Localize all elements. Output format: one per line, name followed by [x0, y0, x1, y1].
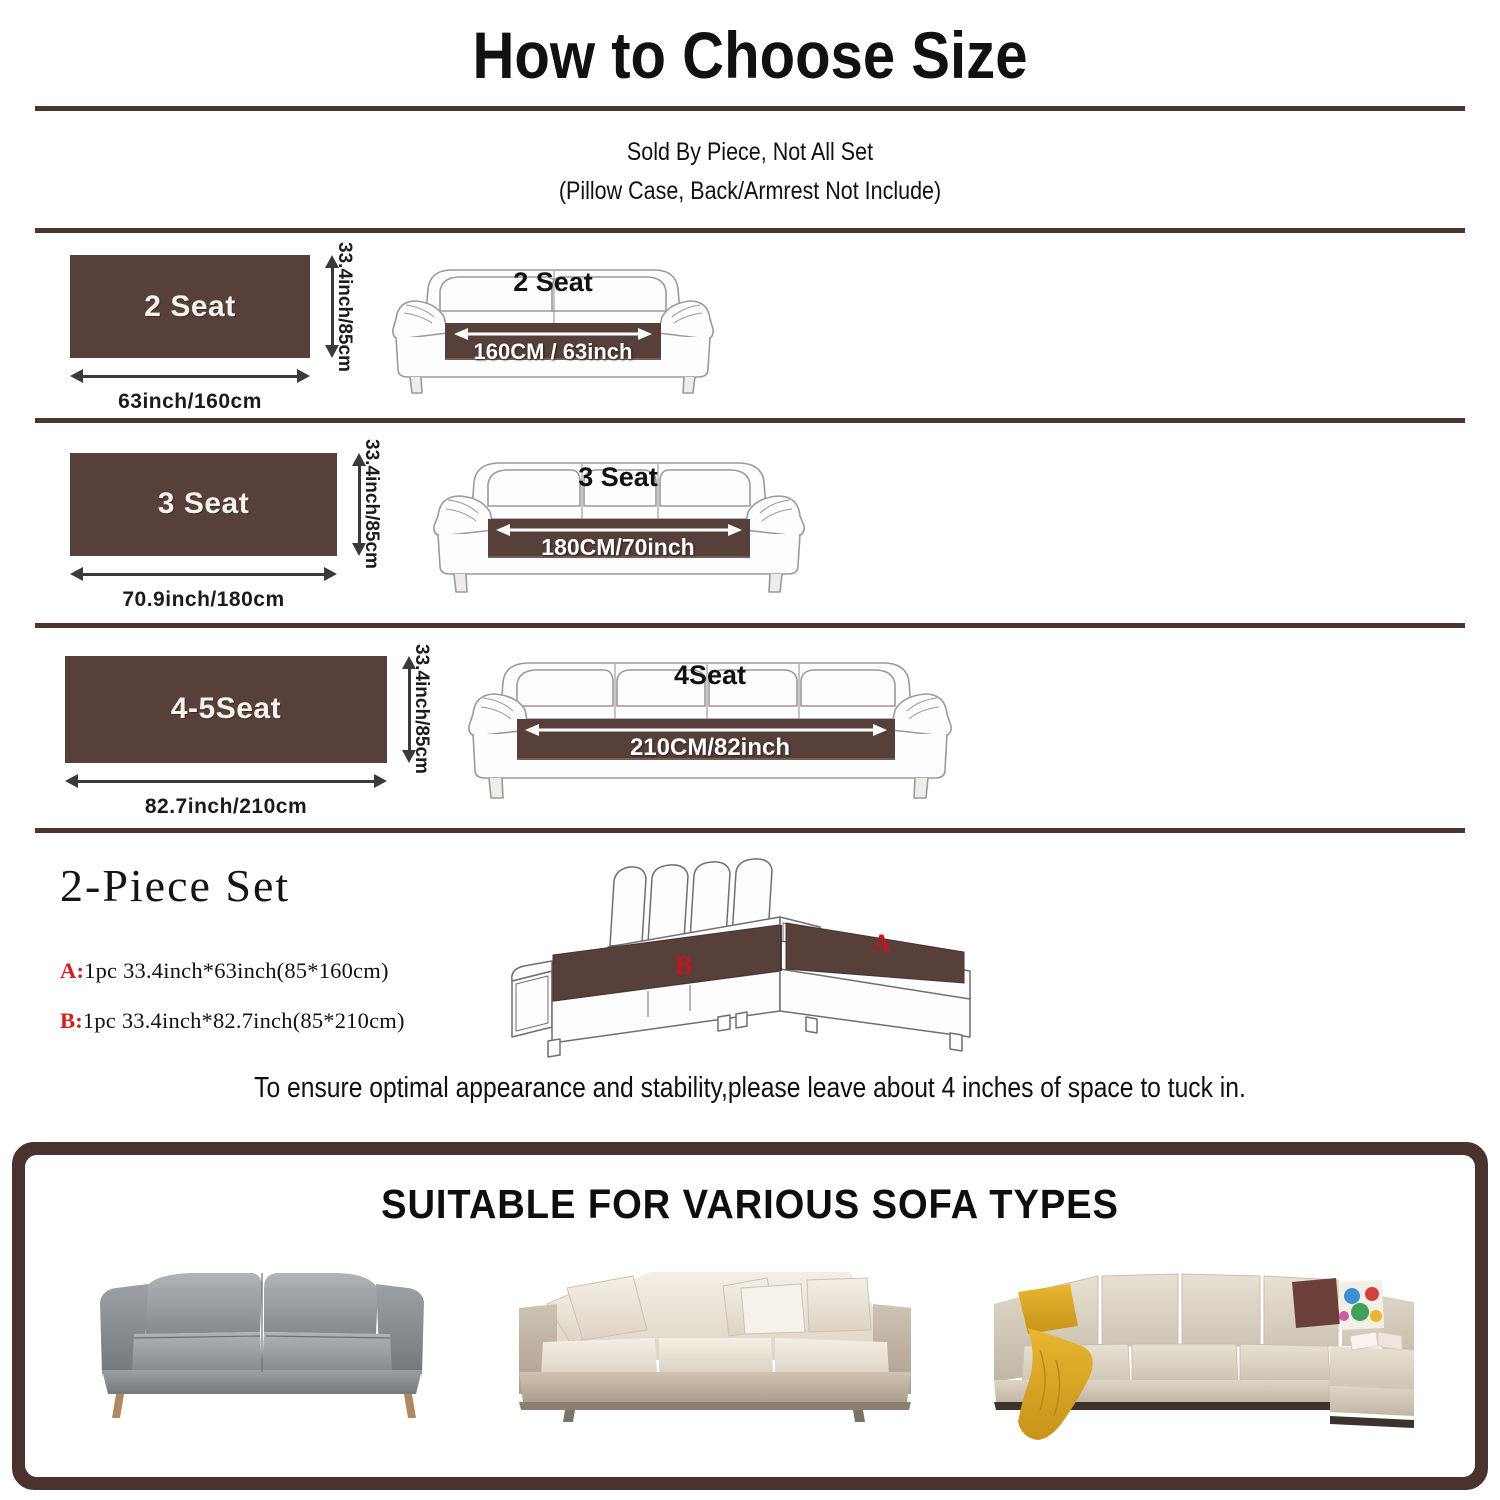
width-arrow-3-seat: 70.9inch/180cm — [70, 564, 337, 594]
height-arrow-4-5-seat: 33.4inch/85cm — [395, 656, 425, 763]
banner-title: SUITABLE FOR VARIOUS SOFA TYPES — [76, 1155, 1425, 1228]
sofa-seat-label: 2 Seat — [388, 267, 718, 298]
sofa-dimension-label: 180CM/70inch — [428, 534, 808, 561]
sofa-dimension-label: 210CM/82inch — [465, 734, 955, 762]
sofa-photo-gallery — [25, 1228, 1475, 1460]
two-piece-set-section: 2-Piece Set A:1pc 33.4inch*63inch(85*160… — [0, 833, 1500, 1066]
two-piece-text-block: 2-Piece Set A:1pc 33.4inch*63inch(85*160… — [0, 859, 470, 1058]
height-caption-wrap: 33.4inch/85cm — [360, 504, 382, 634]
two-piece-item-a-key: A: — [60, 958, 84, 983]
height-caption-wrap: 33.4inch/85cm — [410, 709, 432, 839]
swatch-label: 3 Seat — [158, 487, 249, 521]
width-arrow-2-seat: 63inch/160cm — [70, 366, 310, 396]
cream-sectional-sofa-photo — [978, 1250, 1428, 1460]
size-guide-page: How to Choose Size Sold By Piece, Not Al… — [0, 0, 1500, 1500]
size-swatch-4-5-seat: 4-5Seat — [65, 656, 387, 763]
beige-three-seat-sofa-photo — [505, 1260, 925, 1460]
two-piece-item-b-text: 1pc 33.4inch*82.7inch(85*210cm) — [83, 1008, 405, 1033]
sofa-illustration-4-seat: 4Seat 210CM/82inch — [465, 648, 955, 808]
swatch-block-3-seat: 3 Seat 70.9inch/180cm 33.4inch/85cm — [70, 453, 410, 594]
height-caption: 33.4inch/85cm — [410, 644, 432, 774]
size-row-4-5-seat: 4-5Seat 82.7inch/210cm 33.4inch/85cm — [0, 628, 1500, 828]
banner-inner-card: SUITABLE FOR VARIOUS SOFA TYPES — [25, 1155, 1475, 1477]
tuck-in-note: To ensure optimal appearance and stabili… — [113, 1072, 1388, 1105]
header-note: Sold By Piece, Not All Set (Pillow Case,… — [0, 111, 1500, 229]
size-swatch-2-seat: 2 Seat — [70, 255, 310, 358]
swatch-block-2-seat: 2 Seat 63inch/160cm 33.4inch/85cm — [70, 255, 370, 396]
swatch-label: 2 Seat — [144, 290, 235, 324]
size-swatch-3-seat: 3 Seat — [70, 453, 337, 556]
width-arrow-4-5-seat: 82.7inch/210cm — [65, 771, 387, 801]
height-arrow-3-seat: 33.4inch/85cm — [345, 453, 375, 556]
width-caption: 63inch/160cm — [70, 390, 310, 414]
sectional-letter-a: A — [872, 929, 891, 959]
header-note-line-2: (Pillow Case, Back/Armrest Not Include) — [105, 172, 1395, 211]
width-caption: 70.9inch/180cm — [70, 588, 337, 612]
sectional-diagram: B A — [490, 851, 1010, 1066]
size-row-2-seat: 2 Seat 63inch/160cm 33.4inch/85cm — [0, 233, 1500, 418]
swatch-block-4-5-seat: 4-5Seat 82.7inch/210cm 33.4inch/85cm — [65, 656, 455, 801]
height-caption: 33.4inch/85cm — [360, 439, 382, 569]
two-piece-item-a: A:1pc 33.4inch*63inch(85*160cm) — [60, 958, 470, 984]
size-row-3-seat: 3 Seat 70.9inch/180cm 33.4inch/85cm — [0, 423, 1500, 623]
sofa-seat-label: 3 Seat — [428, 462, 808, 493]
two-piece-title: 2-Piece Set — [60, 859, 470, 912]
gray-two-seat-sofa-photo — [72, 1260, 452, 1460]
suitable-sofa-types-banner: SUITABLE FOR VARIOUS SOFA TYPES — [12, 1142, 1488, 1490]
two-piece-item-b: B:1pc 33.4inch*82.7inch(85*210cm) — [60, 1008, 470, 1034]
two-piece-item-b-key: B: — [60, 1008, 83, 1033]
height-caption: 33.4inch/85cm — [333, 242, 355, 372]
header-note-line-1: Sold By Piece, Not All Set — [105, 133, 1395, 172]
sectional-letter-b: B — [675, 951, 692, 981]
page-title: How to Choose Size — [90, 0, 1410, 94]
sofa-dimension-label: 160CM / 63inch — [388, 339, 718, 365]
sofa-illustration-3-seat: 3 Seat 180CM/70inch — [428, 446, 808, 601]
height-caption-wrap: 33.4inch/85cm — [333, 307, 355, 437]
sofa-illustration-2-seat: 2 Seat 160CM / 63inch — [388, 251, 718, 401]
width-caption: 82.7inch/210cm — [65, 795, 387, 819]
swatch-label: 4-5Seat — [171, 692, 281, 726]
sofa-seat-label: 4Seat — [465, 660, 955, 691]
two-piece-item-a-text: 1pc 33.4inch*63inch(85*160cm) — [84, 958, 389, 983]
height-arrow-2-seat: 33.4inch/85cm — [318, 255, 348, 358]
